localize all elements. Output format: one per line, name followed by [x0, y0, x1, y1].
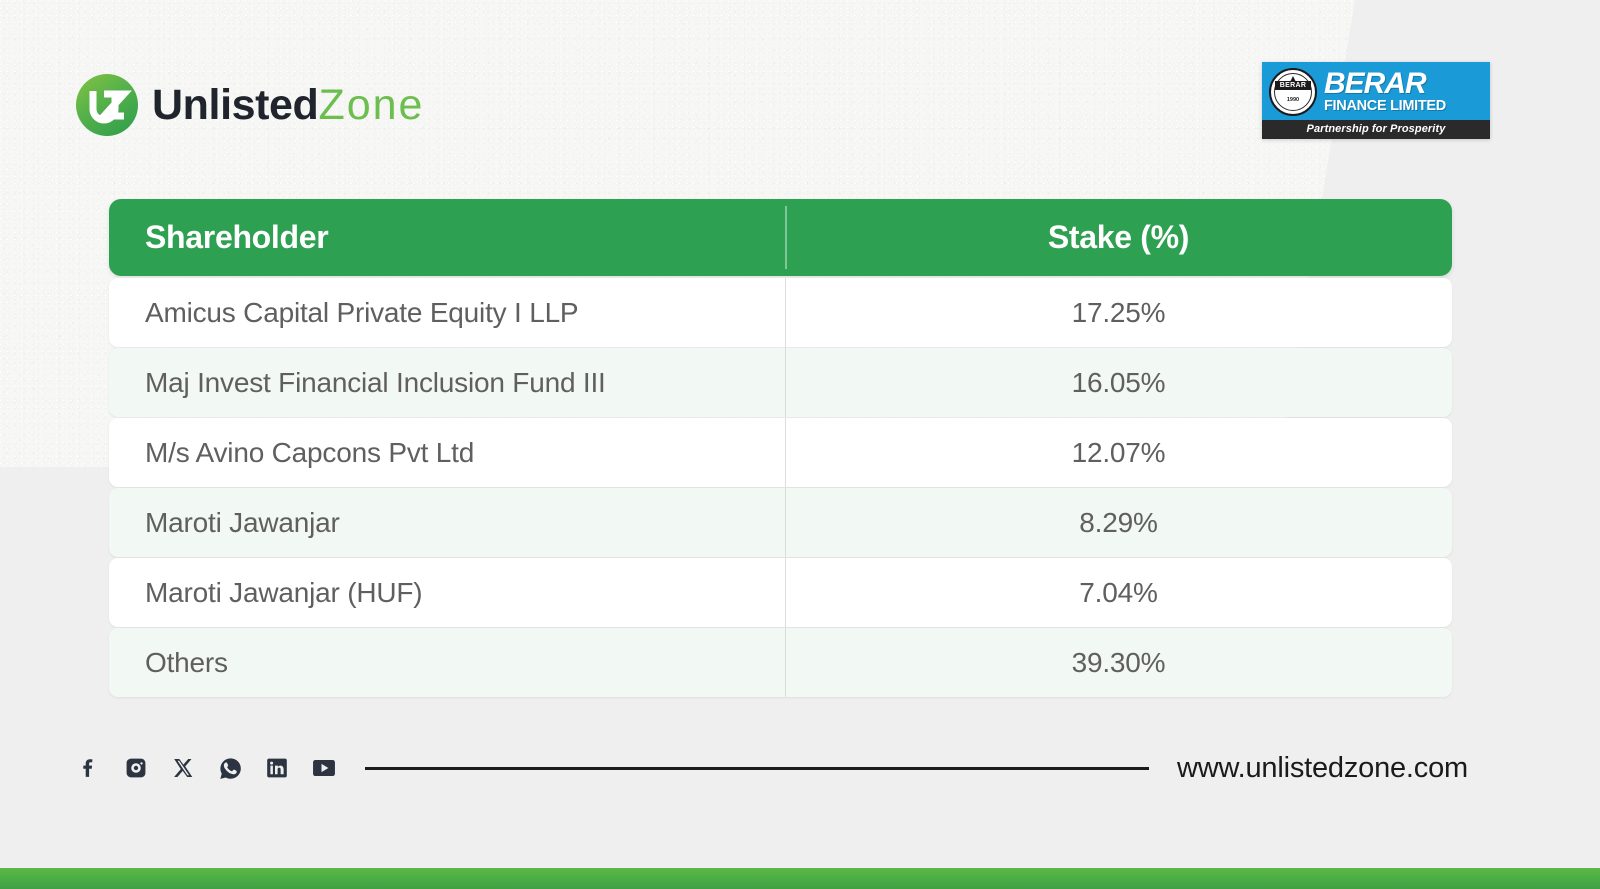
cell-stake: 8.29% — [785, 488, 1452, 557]
footer-divider-rule — [365, 767, 1149, 770]
cell-stake: 17.25% — [785, 278, 1452, 347]
cell-stake: 16.05% — [785, 348, 1452, 417]
berar-brand-name: BERAR — [1324, 70, 1484, 98]
brand-wordmark: UnlistedZone — [152, 84, 424, 127]
row-column-divider — [785, 348, 786, 417]
berar-nameblock: BERAR FINANCE LIMITED — [1324, 70, 1484, 113]
row-column-divider — [785, 558, 786, 627]
footer: www.unlistedzone.com — [76, 748, 1524, 788]
berar-tagline: Partnership for Prosperity — [1262, 120, 1490, 139]
cell-stake: 7.04% — [785, 558, 1452, 627]
instagram-icon[interactable] — [123, 755, 149, 781]
row-column-divider — [785, 418, 786, 487]
cell-stake: 12.07% — [785, 418, 1452, 487]
table-header-row: Shareholder Stake (%) — [109, 199, 1452, 276]
seal-band-label: BERAR — [1275, 81, 1311, 90]
cell-stake: 39.30% — [785, 628, 1452, 697]
brand-word-zone: Zone — [318, 81, 424, 129]
berar-seal-emblem-icon: BERAR 1990 — [1269, 68, 1317, 116]
berar-subtitle: FINANCE LIMITED — [1324, 99, 1484, 114]
table-row[interactable]: Others 39.30% — [109, 628, 1452, 697]
youtube-icon[interactable] — [311, 755, 337, 781]
column-header-stake: Stake (%) — [785, 199, 1452, 276]
berar-logo-top: BERAR 1990 BERAR FINANCE LIMITED — [1262, 62, 1490, 120]
column-header-shareholder: Shareholder — [109, 199, 785, 276]
cell-shareholder: Others — [109, 628, 785, 697]
bottom-accent-bar — [0, 868, 1600, 889]
row-column-divider — [785, 278, 786, 347]
cell-shareholder: Maj Invest Financial Inclusion Fund III — [109, 348, 785, 417]
linkedin-icon[interactable] — [264, 755, 290, 781]
table-row[interactable]: Amicus Capital Private Equity I LLP 17.2… — [109, 278, 1452, 347]
cell-shareholder: Maroti Jawanjar — [109, 488, 785, 557]
brand-word-unlisted: Unlisted — [152, 81, 318, 129]
shareholding-table: Shareholder Stake (%) Amicus Capital Pri… — [109, 199, 1452, 698]
row-column-divider — [785, 628, 786, 697]
table-row[interactable]: M/s Avino Capcons Pvt Ltd 12.07% — [109, 418, 1452, 487]
whatsapp-icon[interactable] — [217, 755, 243, 781]
cell-shareholder: Maroti Jawanjar (HUF) — [109, 558, 785, 627]
table-row[interactable]: Maroti Jawanjar (HUF) 7.04% — [109, 558, 1452, 627]
cell-shareholder: Amicus Capital Private Equity I LLP — [109, 278, 785, 347]
berar-finance-logo: BERAR 1990 BERAR FINANCE LIMITED Partner… — [1262, 62, 1490, 139]
x-twitter-icon[interactable] — [170, 755, 196, 781]
table-body: Amicus Capital Private Equity I LLP 17.2… — [109, 278, 1452, 697]
header-column-divider — [785, 206, 787, 269]
brand-logo: UnlistedZone — [76, 74, 424, 136]
social-links — [76, 755, 337, 781]
seal-year-label: 1990 — [1287, 98, 1299, 104]
facebook-icon[interactable] — [76, 755, 102, 781]
row-column-divider — [785, 488, 786, 557]
cell-shareholder: M/s Avino Capcons Pvt Ltd — [109, 418, 785, 487]
uz-monogram-icon — [76, 74, 138, 136]
table-row[interactable]: Maj Invest Financial Inclusion Fund III … — [109, 348, 1452, 417]
table-row[interactable]: Maroti Jawanjar 8.29% — [109, 488, 1452, 557]
website-url[interactable]: www.unlistedzone.com — [1177, 752, 1468, 785]
